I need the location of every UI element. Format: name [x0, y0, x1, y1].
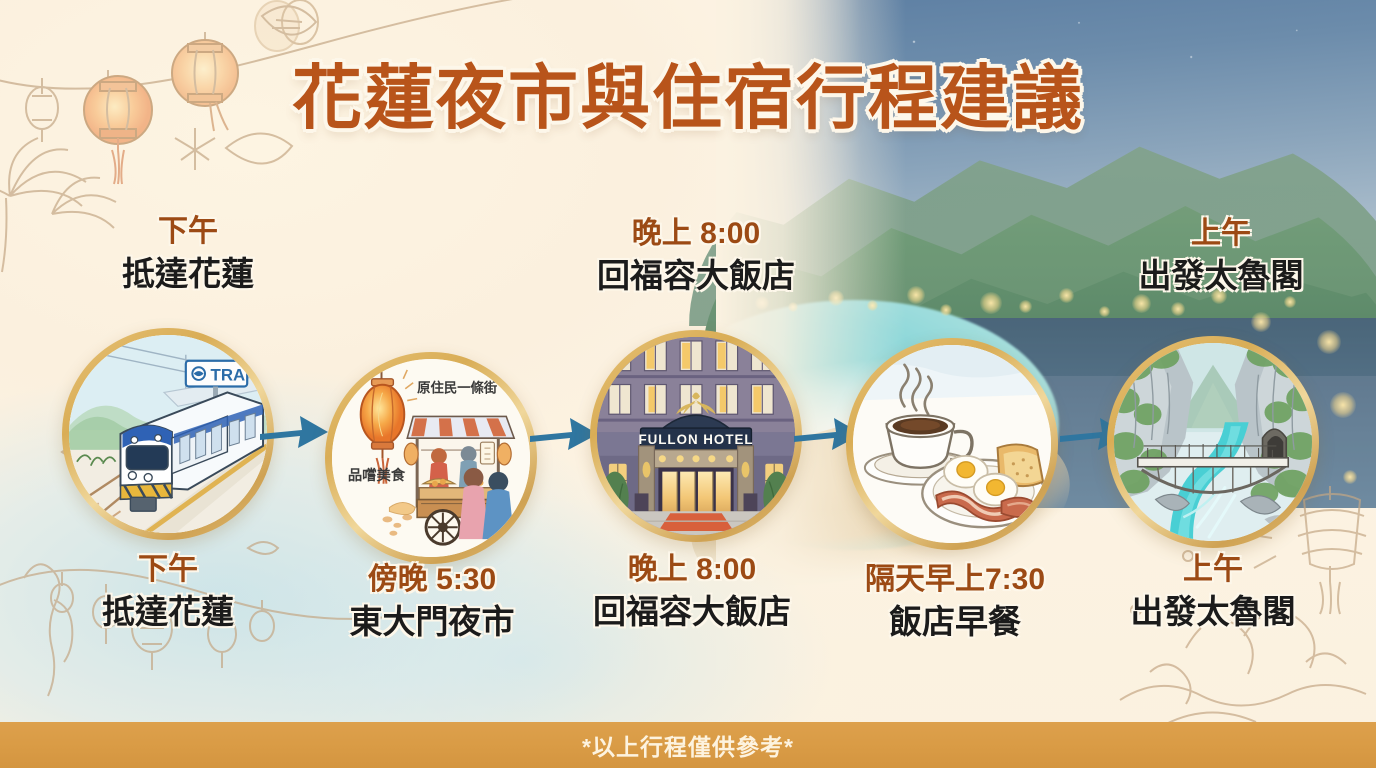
step-caption-top-hotel: 晚上 8:00 回福容大飯店 — [531, 216, 861, 296]
arrow-icon-1 — [258, 408, 330, 454]
breakfast-icon — [853, 345, 1051, 543]
gorge-bridge-icon — [1114, 343, 1312, 541]
train-illustration: TRA — [69, 335, 267, 533]
lantern-food-stall-icon: 原住民一條街 品嚐美食 — [332, 359, 530, 557]
step-circle-arrive-hualien[interactable]: TRA — [62, 328, 274, 540]
hotel-icon: FULLON HOTEL — [597, 337, 795, 535]
svg-text:TRA: TRA — [211, 366, 246, 385]
step-caption-bottom-taroko: 上午 出發太魯閣 — [1048, 552, 1376, 632]
step-caption-top-arrive-hualien: 下午 抵達花蓮 — [23, 214, 353, 294]
step-circle-taroko[interactable] — [1107, 336, 1319, 548]
step-activity-top-4: 出發太魯閣 — [1056, 256, 1376, 296]
step-circle-breakfast[interactable] — [846, 338, 1058, 550]
step-activity-bottom-4: 出發太魯閣 — [1048, 592, 1376, 632]
step-time-top-4: 上午 — [1056, 216, 1376, 253]
footer-note: *以上行程僅供參考* — [582, 728, 794, 762]
step-activity-top-2: 回福容大飯店 — [531, 256, 861, 296]
step-caption-top-taroko: 上午 出發太魯閣 — [1056, 216, 1376, 296]
night-market-illustration: 原住民一條街 品嚐美食 — [332, 359, 530, 557]
taroko-gorge-illustration — [1114, 343, 1312, 541]
footer-banner: *以上行程僅供參考* — [0, 722, 1376, 768]
step-time-top-2: 晚上 8:00 — [531, 216, 861, 253]
hotel-illustration: FULLON HOTEL — [597, 337, 795, 535]
breakfast-illustration — [853, 345, 1051, 543]
step-time-bottom-4: 上午 — [1048, 552, 1376, 589]
svg-text:品嚐美食: 品嚐美食 — [348, 466, 406, 484]
svg-text:FULLON HOTEL: FULLON HOTEL — [638, 432, 753, 447]
step-circle-hotel[interactable]: FULLON HOTEL — [590, 330, 802, 542]
train-icon: TRA — [69, 335, 267, 533]
infographic-canvas: 花蓮夜市與住宿行程建議 下午 抵達花蓮 — [0, 0, 1376, 768]
step-circle-night-market[interactable]: 原住民一條街 品嚐美食 — [325, 352, 537, 564]
step-activity-top-0: 抵達花蓮 — [23, 254, 353, 294]
step-time-top-0: 下午 — [23, 214, 353, 251]
page-title: 花蓮夜市與住宿行程建議 — [0, 42, 1376, 143]
svg-text:原住民一條街: 原住民一條街 — [417, 380, 498, 396]
